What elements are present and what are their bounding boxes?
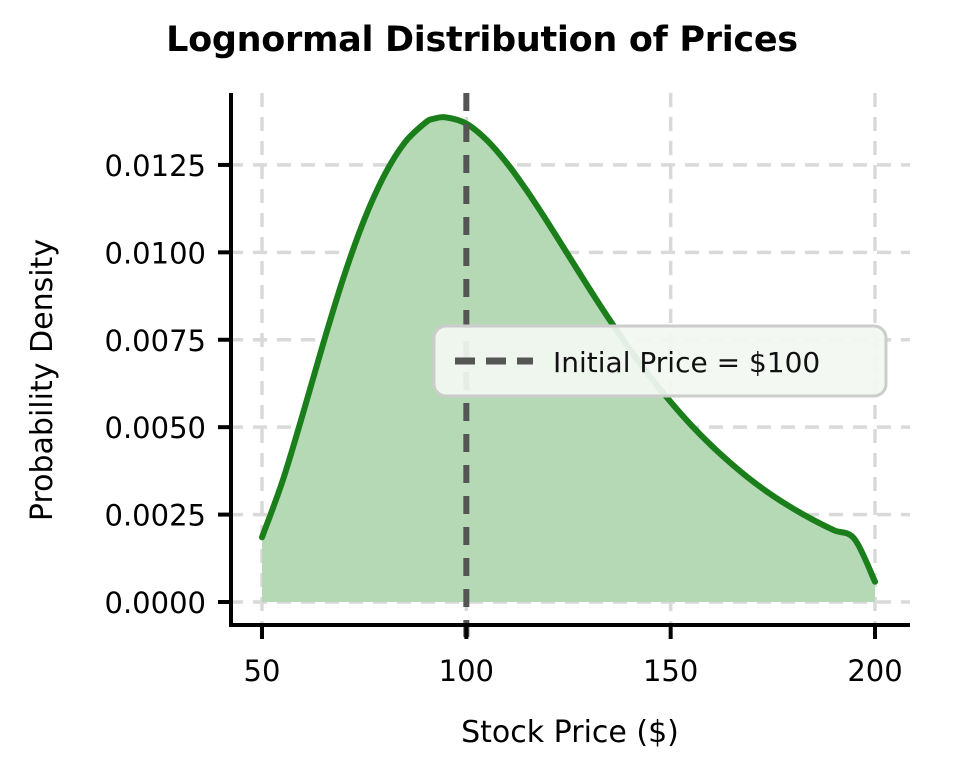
y-axis-label: Probability Density: [25, 239, 60, 521]
y-tick-label: 0.0000: [105, 586, 206, 620]
legend-entry-label: Initial Price = $100: [553, 346, 820, 379]
y-tick-label: 0.0050: [105, 411, 206, 445]
chart-page: Lognormal Distribution of Prices 0.00000…: [0, 0, 964, 784]
x-tick-label: 50: [244, 654, 281, 688]
x-axis-tick-labels: 50100150200: [244, 654, 903, 688]
x-tick-label: 100: [439, 654, 494, 688]
x-tick-label: 150: [643, 654, 698, 688]
x-axis-tick-marks: [262, 625, 875, 639]
x-tick-label: 200: [847, 654, 902, 688]
y-axis-tick-labels: 0.00000.00250.00500.00750.01000.0125: [105, 149, 206, 620]
y-tick-label: 0.0100: [105, 236, 206, 270]
x-axis-label: Stock Price ($): [461, 715, 679, 750]
y-tick-label: 0.0025: [105, 499, 206, 533]
lognormal-distribution-chart: 0.00000.00250.00500.00750.01000.0125 501…: [0, 0, 964, 784]
chart-legend[interactable]: Initial Price = $100: [434, 326, 886, 396]
y-tick-label: 0.0125: [105, 149, 206, 183]
y-tick-label: 0.0075: [105, 324, 206, 358]
